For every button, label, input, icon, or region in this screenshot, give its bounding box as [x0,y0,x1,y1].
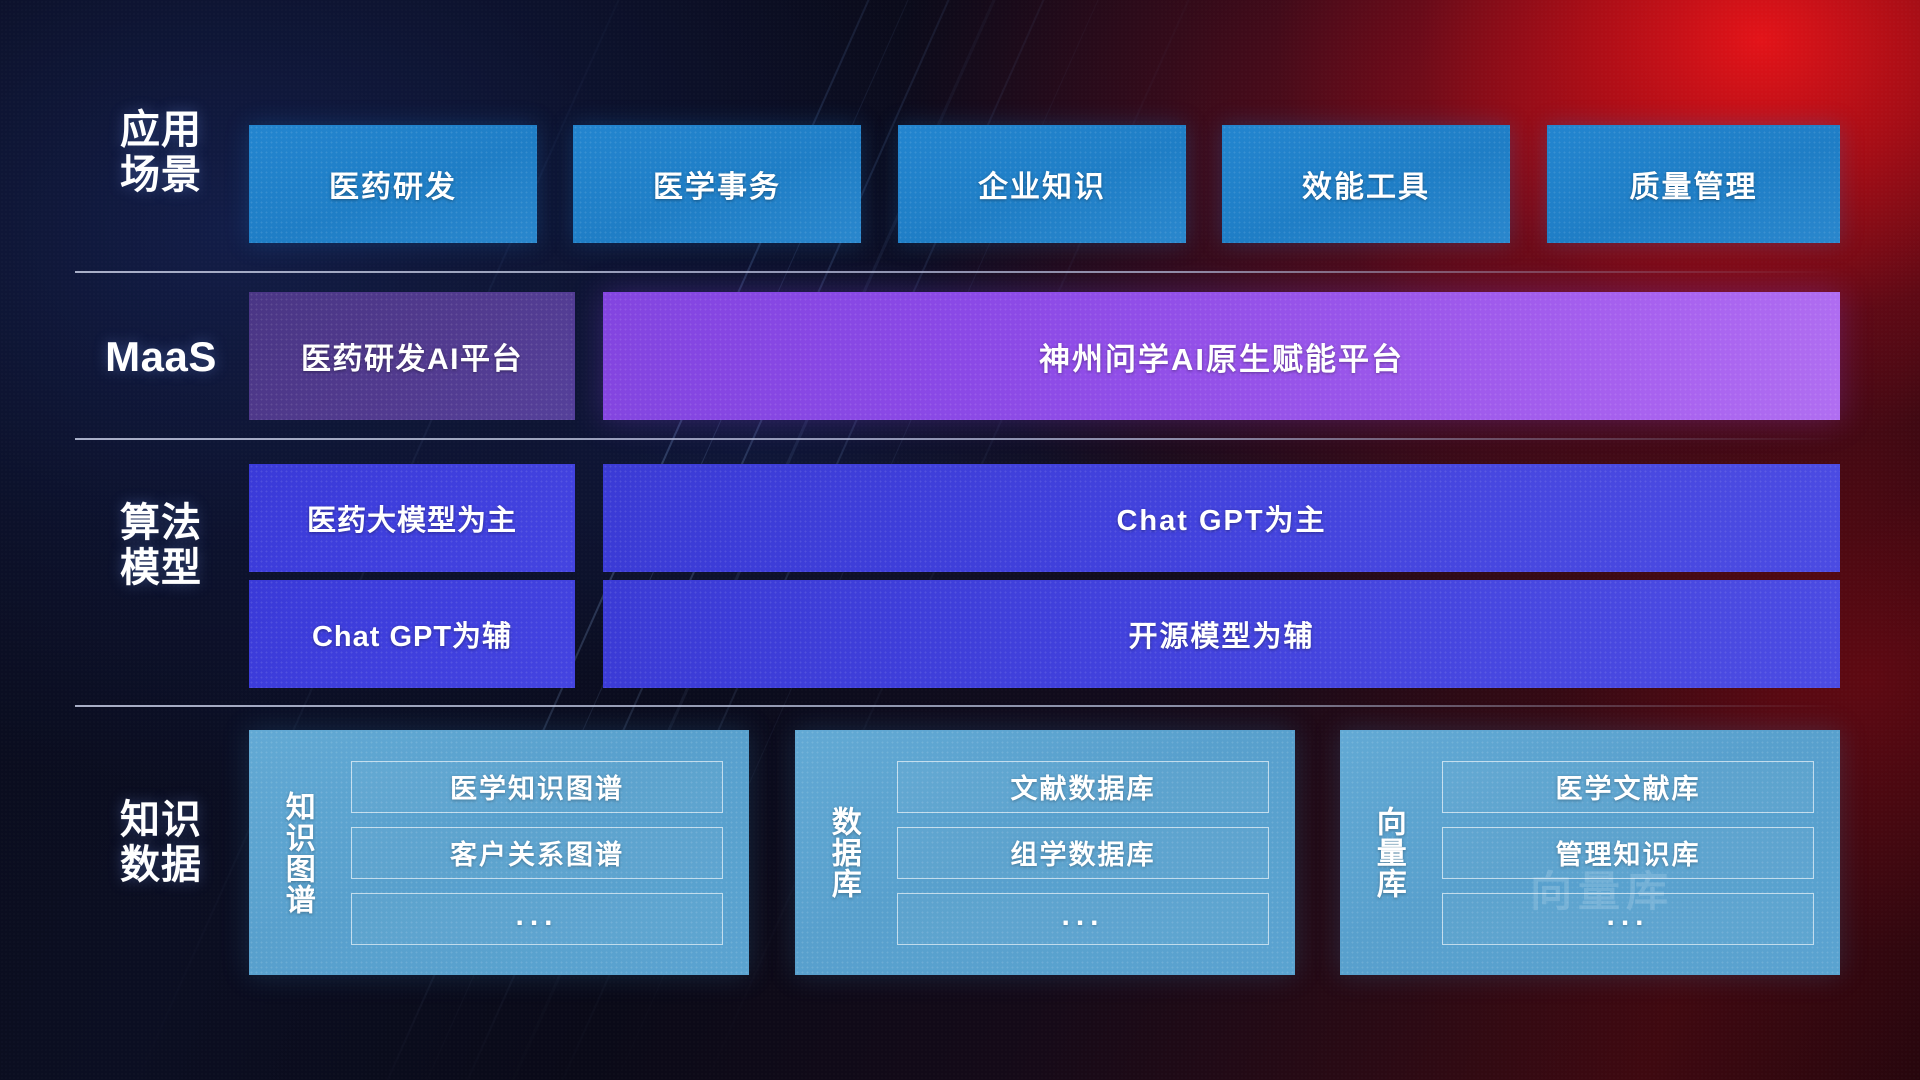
knowledge-item[interactable]: 医学知识图谱 [351,761,723,813]
knowledge-panel-title: 知识图谱 [249,730,345,975]
algo-secondary-main-label: 开源模型为辅 [1128,613,1314,655]
app-scenario-label: 质量管理 [1630,162,1758,206]
algo-primary-left-label: 医药大模型为主 [307,497,517,539]
row-label-line: 知识 [75,798,247,843]
knowledge-panel-knowledge-graph[interactable]: 知识图谱 医学知识图谱 客户关系图谱 ... [249,730,749,975]
app-scenario-box-1[interactable]: 医药研发 [249,125,537,243]
architecture-diagram: 应用 场景 MaaS 算法 模型 知识 数据 医药研发 医学事务 企业知识 效能… [0,0,1920,1080]
algo-secondary-main-box[interactable]: 开源模型为辅 [603,580,1840,688]
row-divider-1 [75,271,1840,273]
algo-secondary-left-label: Chat GPT为辅 [312,613,512,655]
maas-pharma-platform-label: 医药研发AI平台 [301,334,523,378]
app-scenario-label: 效能工具 [1302,162,1430,206]
knowledge-item[interactable]: 医学文献库 [1442,761,1814,813]
app-scenario-box-4[interactable]: 效能工具 [1222,125,1510,243]
knowledge-panel-title: 向量库 [1340,730,1436,975]
row-label-knowledge-data: 知识 数据 [75,798,247,888]
algo-primary-main-box[interactable]: Chat GPT为主 [603,464,1840,572]
row-label-algorithm-model: 算法 模型 [75,501,247,591]
algo-primary-main-label: Chat GPT为主 [1116,497,1326,539]
app-scenario-label: 医学事务 [653,162,781,206]
app-scenario-box-2[interactable]: 医学事务 [573,125,861,243]
knowledge-panel-database[interactable]: 数据库 文献数据库 组学数据库 ... [795,730,1295,975]
app-scenario-box-3[interactable]: 企业知识 [898,125,1186,243]
maas-shenzhou-platform-box[interactable]: 神州问学AI原生赋能平台 [603,292,1840,420]
app-scenario-label: 企业知识 [978,162,1106,206]
knowledge-item[interactable]: 客户关系图谱 [351,827,723,879]
knowledge-panel-items: 文献数据库 组学数据库 ... [891,730,1295,975]
row-label-line: 模型 [75,546,247,591]
algo-secondary-left-box[interactable]: Chat GPT为辅 [249,580,575,688]
maas-shenzhou-platform-label: 神州问学AI原生赋能平台 [1039,334,1404,379]
knowledge-item-more[interactable]: ... [1442,893,1814,945]
maas-pharma-platform-box[interactable]: 医药研发AI平台 [249,292,575,420]
row-label-line: MaaS [75,333,247,380]
app-scenario-label: 医药研发 [329,162,457,206]
knowledge-item[interactable]: 组学数据库 [897,827,1269,879]
knowledge-item-more[interactable]: ... [351,893,723,945]
row-label-maas: MaaS [75,333,247,380]
row-label-line: 算法 [75,501,247,546]
row-divider-2 [75,438,1840,440]
knowledge-item[interactable]: 文献数据库 [897,761,1269,813]
app-scenario-box-5[interactable]: 质量管理 [1547,125,1840,243]
knowledge-panel-vector-store[interactable]: 向量库 向量库 医学文献库 管理知识库 ... [1340,730,1840,975]
row-label-line: 场景 [75,153,247,198]
algo-primary-left-box[interactable]: 医药大模型为主 [249,464,575,572]
knowledge-item-more[interactable]: ... [897,893,1269,945]
knowledge-panel-items: 医学文献库 管理知识库 ... [1436,730,1840,975]
knowledge-item[interactable]: 管理知识库 [1442,827,1814,879]
row-label-line: 数据 [75,843,247,888]
row-label-application-scenario: 应用 场景 [75,108,247,198]
knowledge-panel-title: 数据库 [795,730,891,975]
knowledge-panel-items: 医学知识图谱 客户关系图谱 ... [345,730,749,975]
row-divider-3 [75,705,1840,707]
row-label-line: 应用 [75,108,247,153]
